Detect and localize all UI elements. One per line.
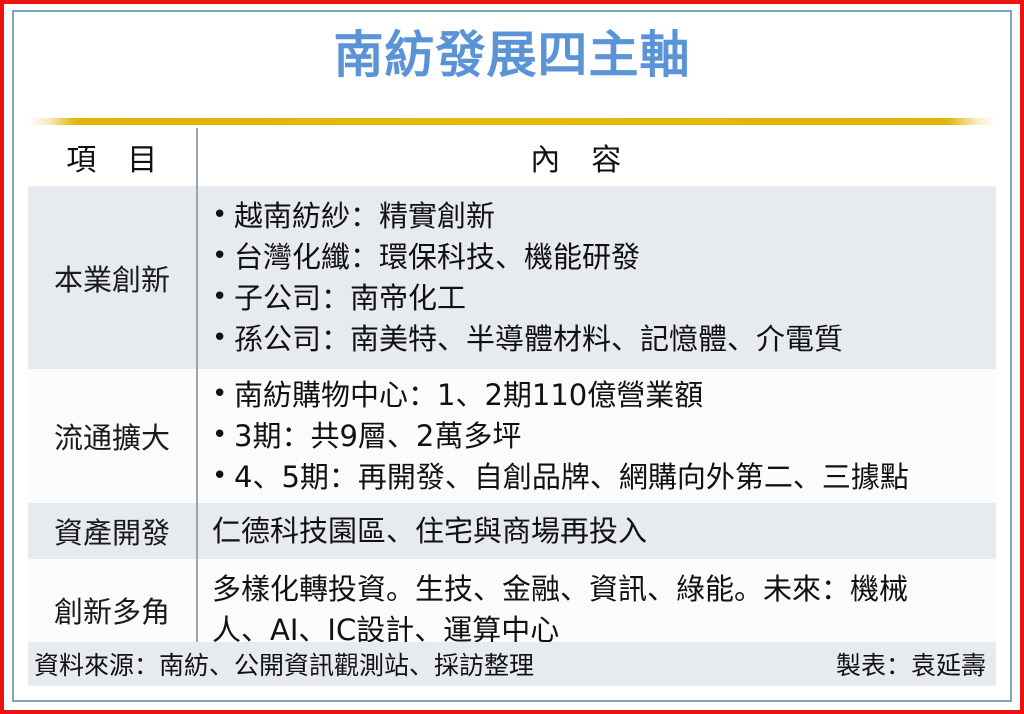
table-row: 流通擴大 南紡購物中心：1、2期110億營業額 3期：共9層、2萬多坪 4、5期… xyxy=(28,369,996,503)
header-cell-content: 內 容 xyxy=(198,128,996,186)
list-item: 台灣化纖：環保科技、機能研發 xyxy=(212,237,996,278)
row-content-cell: 越南紡紗：精實創新 台灣化纖：環保科技、機能研發 子公司：南帝化工 孫公司：南美… xyxy=(198,186,996,369)
credit-note: 製表：袁延壽 xyxy=(836,646,986,682)
header-item-label: 項 目 xyxy=(66,135,158,179)
bullet-list: 越南紡紗：精實創新 台灣化纖：環保科技、機能研發 子公司：南帝化工 孫公司：南美… xyxy=(212,196,996,360)
gold-divider-rule xyxy=(28,118,996,125)
list-item: 4、5期：再開發、自創品牌、網購向外第二、三據點 xyxy=(212,457,996,498)
row-category-label: 本業創新 xyxy=(54,257,170,299)
row-category-label: 資產開發 xyxy=(54,510,170,552)
row-text: 多樣化轉投資。生技、金融、資訊、綠能。未來：機械 xyxy=(212,569,996,610)
table-header-row: 項 目 內 容 xyxy=(28,128,996,186)
list-item: 南紡購物中心：1、2期110億營業額 xyxy=(212,375,996,416)
row-category-cell: 本業創新 xyxy=(28,186,198,369)
row-text: 仁德科技園區、住宅與商場再投入 xyxy=(212,511,996,552)
row-category-cell: 流通擴大 xyxy=(28,369,198,503)
row-content-cell: 南紡購物中心：1、2期110億營業額 3期：共9層、2萬多坪 4、5期：再開發、… xyxy=(198,369,996,503)
list-item: 3期：共9層、2萬多坪 xyxy=(212,416,996,457)
title-container: 南紡發展四主軸 xyxy=(14,26,1010,84)
list-item: 孫公司：南美特、半導體材料、記憶體、介電質 xyxy=(212,319,996,360)
source-note: 資料來源：南紡、公開資訊觀測站、採訪整理 xyxy=(34,646,534,682)
list-item: 越南紡紗：精實創新 xyxy=(212,196,996,237)
table-row: 資產開發 仁德科技園區、住宅與商場再投入 xyxy=(28,503,996,559)
header-content-label: 內 容 xyxy=(530,135,622,179)
row-category-label: 創新多角 xyxy=(54,589,170,631)
list-item: 子公司：南帝化工 xyxy=(212,278,996,319)
page-title: 南紡發展四主軸 xyxy=(334,26,691,84)
header-cell-item: 項 目 xyxy=(28,128,198,186)
row-category-cell: 資產開發 xyxy=(28,503,198,559)
table-row: 本業創新 越南紡紗：精實創新 台灣化纖：環保科技、機能研發 子公司：南帝化工 孫… xyxy=(28,186,996,369)
bullet-list: 南紡購物中心：1、2期110億營業額 3期：共9層、2萬多坪 4、5期：再開發、… xyxy=(212,375,996,498)
inner-frame: 南紡發展四主軸 項 目 內 容 本業創新 越南紡紗：精實創新 xyxy=(12,10,1012,702)
row-content-cell: 仁德科技園區、住宅與商場再投入 xyxy=(198,503,996,559)
main-table: 項 目 內 容 本業創新 越南紡紗：精實創新 台灣化纖：環保科技、機能研發 子公… xyxy=(28,128,996,688)
row-category-label: 流通擴大 xyxy=(54,415,170,457)
infographic-page: 南紡發展四主軸 項 目 內 容 本業創新 越南紡紗：精實創新 xyxy=(0,0,1024,714)
footer-bar: 資料來源：南紡、公開資訊觀測站、採訪整理 製表：袁延壽 xyxy=(28,642,996,686)
